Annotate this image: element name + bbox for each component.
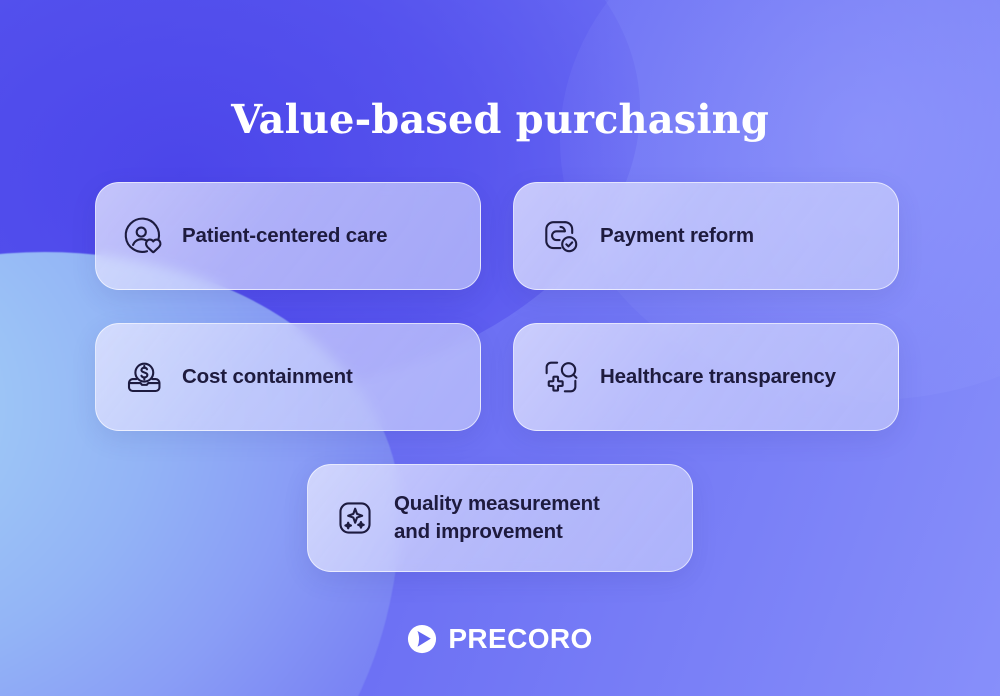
feature-card-grid: Patient-centered care Payment ref — [95, 182, 905, 605]
poster-canvas: Value-based purchasing Patient-centered … — [0, 0, 1000, 696]
card-label: Payment reform — [600, 222, 754, 250]
card-row-1: Patient-centered care Payment ref — [95, 182, 905, 290]
sparkles-square-icon — [334, 497, 376, 539]
precoro-play-circle-icon — [407, 624, 437, 654]
scan-medical-search-icon — [540, 356, 582, 398]
card-label: Quality measurement and improvement — [394, 490, 600, 547]
card-healthcare-transparency[interactable]: Healthcare transparency — [513, 323, 899, 431]
user-heart-icon — [122, 215, 164, 257]
brand-logo: PRECORO — [0, 624, 1000, 654]
card-cost-containment[interactable]: Cost containment — [95, 323, 481, 431]
card-label: Healthcare transparency — [600, 363, 836, 391]
card-payment-reform[interactable]: Payment reform — [513, 182, 899, 290]
poster-content: Value-based purchasing Patient-centered … — [0, 0, 1000, 696]
card-quality-measurement[interactable]: Quality measurement and improvement — [307, 464, 693, 572]
page-title: Value-based purchasing — [0, 97, 1000, 143]
brand-name: PRECORO — [448, 625, 592, 653]
card-label: Cost containment — [182, 363, 353, 391]
card-check-icon — [540, 215, 582, 257]
card-label: Patient-centered care — [182, 222, 387, 250]
card-patient-centered-care[interactable]: Patient-centered care — [95, 182, 481, 290]
card-row-2: Cost containment Healthcare transparency — [95, 323, 905, 431]
card-row-3: Quality measurement and improvement — [95, 464, 905, 572]
coin-deposit-icon — [122, 356, 164, 398]
